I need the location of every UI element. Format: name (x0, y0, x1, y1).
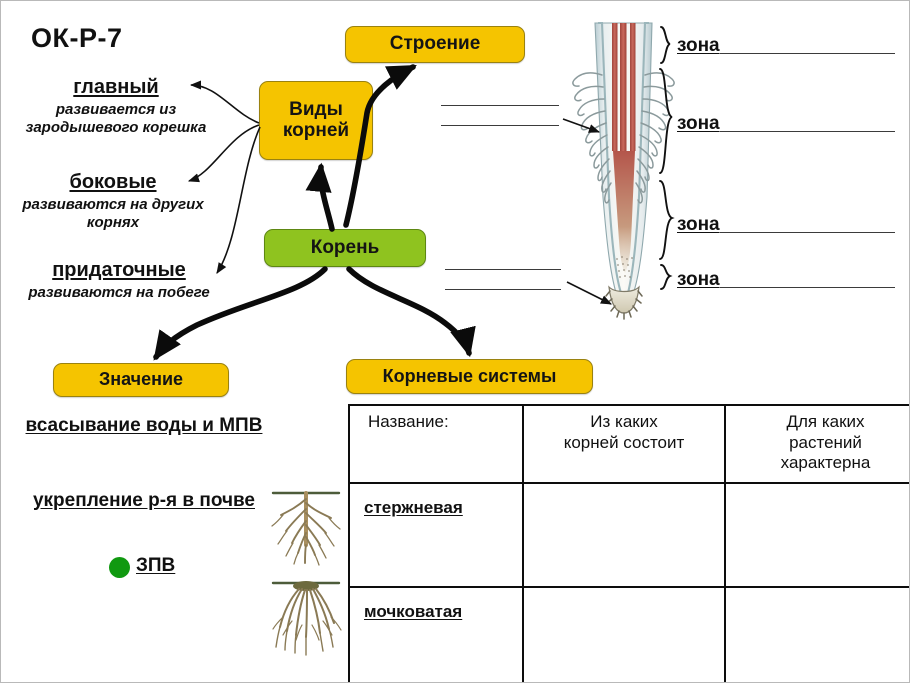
branch-main-root: главный развивается из зародышевого коре… (21, 76, 211, 138)
node-root-center[interactable]: Корень (264, 229, 426, 267)
branch-adventitious-root-desc: развиваются на побеге (15, 284, 223, 302)
root-types-line-1: Виды (289, 99, 343, 120)
branch-lateral-root-desc: развиваются на других корнях (15, 196, 211, 233)
header-plants-line-1: Для каких (786, 412, 864, 431)
table-row: мочковатая (349, 587, 910, 683)
row-fibrous-composition-cell[interactable] (523, 587, 725, 683)
arrow-root-to-systems (349, 269, 469, 353)
callout-blank-line-lower-2[interactable] (445, 289, 561, 290)
callout-blank-line-upper-2[interactable] (441, 125, 559, 126)
zone-2-text: зона (677, 113, 720, 135)
table-header-row: Название: Из каких корней состоит Для ка… (349, 405, 910, 483)
arrow-root-to-types (321, 167, 332, 229)
root-types-line-2: корней (283, 120, 349, 141)
header-name: Название: (349, 405, 523, 483)
header-composition-line-2: корней состоит (564, 433, 685, 452)
branch-lateral-root: боковые развиваются на других корнях (15, 171, 211, 233)
zone-4-text: зона (677, 269, 720, 291)
root-systems-table: Название: Из каких корней состоит Для ка… (348, 404, 910, 683)
branch-adventitious-root-title: придаточные (15, 259, 223, 282)
branch-adventitious-root: придаточные развиваются на побеге (15, 259, 223, 302)
node-root-systems[interactable]: Корневые системы (346, 359, 593, 394)
node-significance[interactable]: Значение (53, 363, 229, 397)
branch-main-root-title: главный (21, 76, 211, 99)
zone-label-1: зона (677, 35, 895, 57)
callout-blank-line-lower-1[interactable] (445, 269, 561, 270)
arrow-callout-upper (563, 119, 599, 132)
node-root-types-label: Виды корней (283, 100, 349, 141)
arrow-to-adventitious-root (217, 127, 260, 273)
fibrous-root-system-image (259, 573, 353, 659)
significance-water-absorption: всасывание воды и МПВ (19, 414, 269, 438)
node-structure[interactable]: Строение (345, 26, 525, 63)
zone-1-blank[interactable] (720, 53, 895, 54)
arrow-callout-lower (567, 282, 611, 304)
header-name-line-1: Название: (368, 412, 449, 431)
branch-lateral-root-title: боковые (15, 171, 211, 194)
worksheet-page: ОК-Р-7 Строение Виды корней Корень Значе… (0, 0, 910, 683)
row-fibrous-label: мочковатая (349, 587, 523, 683)
table-row: стержневая (349, 483, 910, 587)
bracket-zone-4 (661, 265, 670, 289)
worksheet-code: ОК-Р-7 (31, 23, 123, 54)
bracket-zone-1 (661, 27, 670, 63)
row-fibrous-plants-cell[interactable] (725, 587, 910, 683)
taproot-system-image (259, 481, 353, 571)
header-composition: Из каких корней состоит (523, 405, 725, 483)
bracket-zone-2 (660, 69, 672, 173)
zone-3-blank[interactable] (720, 232, 895, 233)
branch-main-root-desc: развивается из зародышевого корешка (21, 101, 211, 138)
zone-2-blank[interactable] (720, 131, 895, 132)
header-plants-line-3: характерна (781, 453, 871, 472)
header-plants-line-2: растений (789, 433, 862, 452)
zone-label-2: зона (677, 113, 895, 135)
zone-label-4: зона (677, 269, 895, 291)
zone-label-3: зона (677, 214, 895, 236)
bracket-zone-3 (660, 181, 672, 259)
row-taproot-label: стержневая (349, 483, 523, 587)
node-root-types[interactable]: Виды корней (259, 81, 373, 160)
header-plants: Для каких растений характерна (725, 405, 910, 483)
zone-1-text: зона (677, 35, 720, 57)
header-composition-line-1: Из каких (590, 412, 657, 431)
zone-3-text: зона (677, 214, 720, 236)
row-taproot-composition-cell[interactable] (523, 483, 725, 587)
significance-soil-anchoring: укрепление р-я в почве (29, 489, 259, 513)
significance-zpv: ЗПВ (136, 554, 246, 578)
row-taproot-plants-cell[interactable] (725, 483, 910, 587)
green-dot-icon (109, 557, 130, 578)
callout-blank-line-upper-1[interactable] (441, 105, 559, 106)
zone-4-blank[interactable] (720, 287, 895, 288)
root-tip-anatomy-image (573, 23, 674, 319)
